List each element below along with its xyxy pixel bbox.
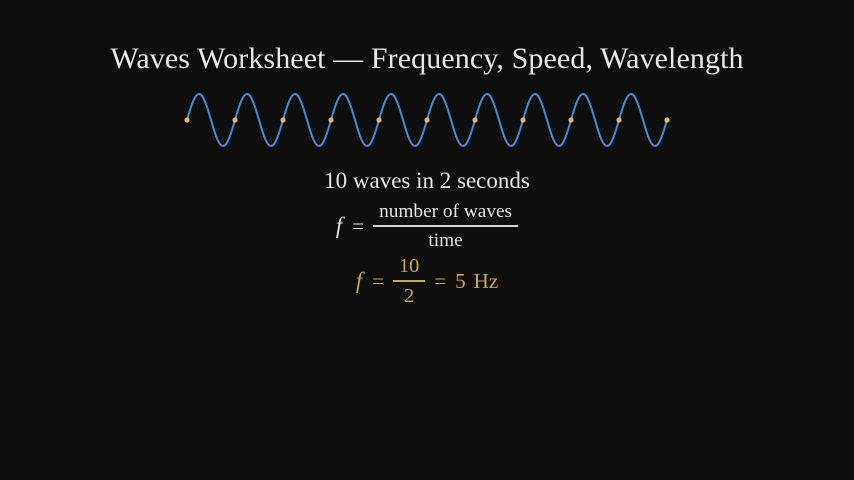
equals-sign-first: = <box>363 269 393 294</box>
frequency-definition-equation: f = number of waves time <box>0 198 854 254</box>
wave-cycle-marker <box>568 117 573 122</box>
result-fraction: 10 2 <box>393 255 425 308</box>
fraction-numerator: number of waves <box>373 201 518 223</box>
sine-wave-diagram <box>175 80 680 160</box>
fraction-denominator: 2 <box>398 285 420 308</box>
wave-cycle-marker <box>232 117 237 122</box>
wave-cycle-marker <box>664 117 669 122</box>
wave-cycle-marker <box>424 117 429 122</box>
problem-statement: 10 waves in 2 seconds <box>0 168 854 194</box>
variable-f: f <box>356 268 363 294</box>
wave-cycle-marker <box>328 117 333 122</box>
fraction-bar <box>373 225 518 226</box>
wave-cycle-marker <box>184 117 189 122</box>
wave-cycle-markers <box>184 117 669 122</box>
fraction-bar <box>393 280 425 281</box>
variable-f: f <box>336 213 343 239</box>
fraction-numerator: 10 <box>393 255 425 278</box>
wave-svg <box>175 80 680 160</box>
page-title: Waves Worksheet — Frequency, Speed, Wave… <box>0 42 854 76</box>
wave-cycle-marker <box>280 117 285 122</box>
result-value: 5 <box>455 269 466 294</box>
frequency-result-equation: f = 10 2 = 5 Hz <box>0 256 854 306</box>
wave-cycle-marker <box>376 117 381 122</box>
wave-cycle-marker <box>472 117 477 122</box>
equals-sign: = <box>343 214 373 239</box>
result-unit: Hz <box>466 269 499 294</box>
worksheet-canvas: Waves Worksheet — Frequency, Speed, Wave… <box>0 0 854 480</box>
wave-cycle-marker <box>616 117 621 122</box>
wave-cycle-marker <box>520 117 525 122</box>
definition-fraction: number of waves time <box>373 201 518 252</box>
equals-sign-second: = <box>425 269 455 294</box>
fraction-denominator: time <box>422 230 468 252</box>
